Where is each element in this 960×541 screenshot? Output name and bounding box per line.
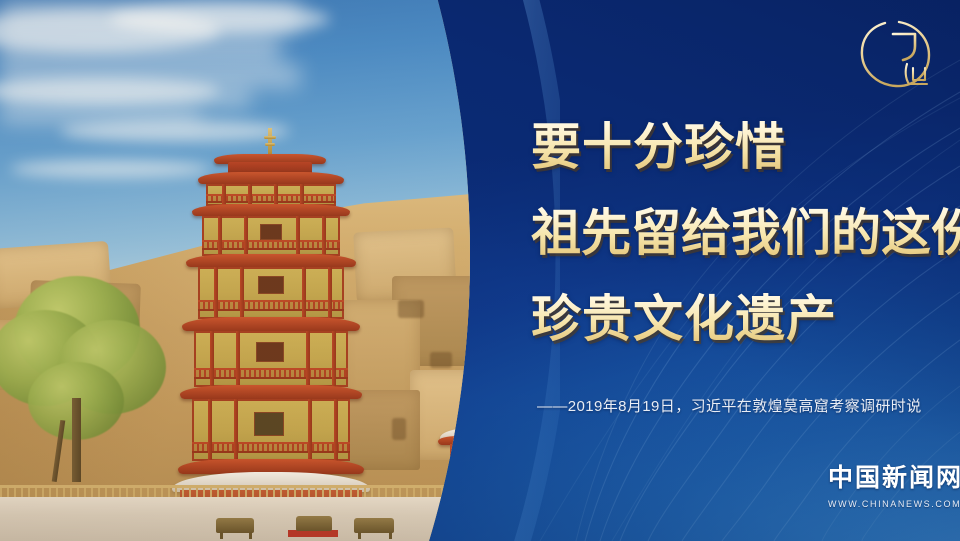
brand-url: WWW.CHINANEWS.COM	[828, 499, 952, 509]
xi-yan-dao-seal-logo	[855, 14, 937, 96]
photo-pagoda	[176, 128, 366, 541]
headline-line-2: 祖先留给我们的这份	[531, 190, 960, 276]
attribution-text: ——2019年8月19日，习近平在敦煌莫高窟考察调研时说	[537, 395, 922, 416]
chinanews-brand[interactable]: 中国新闻网 WWW.CHINANEWS.COM	[828, 458, 952, 509]
hero-photo	[0, 0, 520, 541]
headline-line-1: 要十分珍惜	[531, 104, 960, 190]
headline: 要十分珍惜 祖先留给我们的这份 珍贵文化遗产	[531, 104, 960, 362]
poster-root: 要十分珍惜 祖先留给我们的这份 珍贵文化遗产 ——2019年8月19日，习近平在…	[0, 0, 960, 541]
brand-name-cn: 中国新闻网	[828, 458, 952, 494]
headline-line-3: 珍贵文化遗产	[531, 276, 960, 362]
